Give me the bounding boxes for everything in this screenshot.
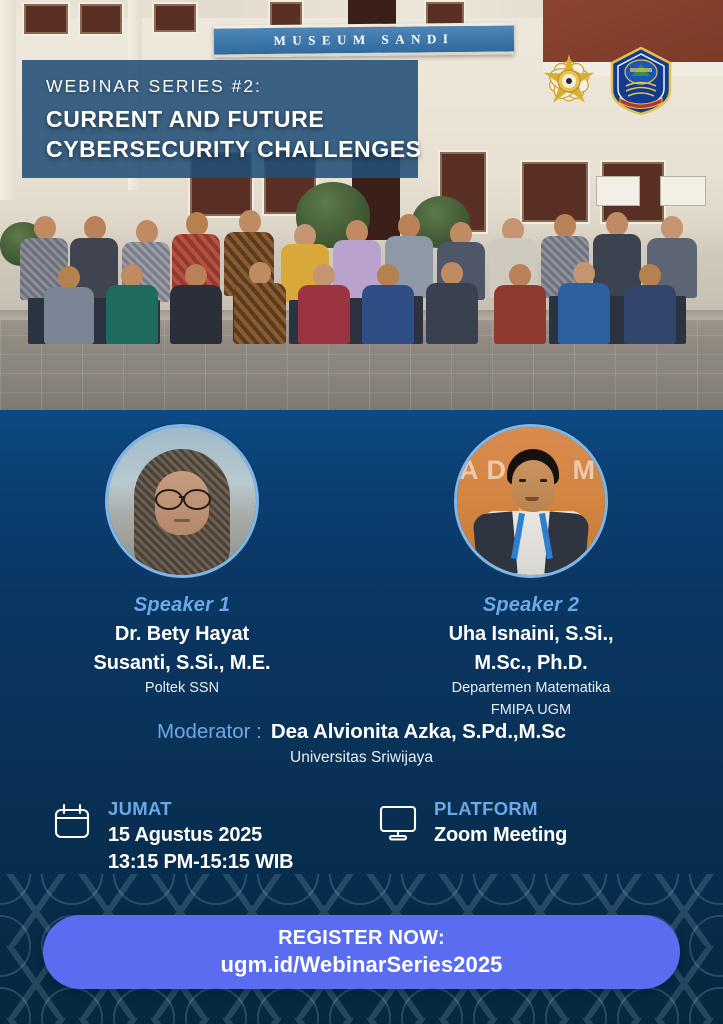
speaker-2-role: Speaker 2	[381, 594, 681, 617]
event-date-text: JUMAT 15 Agustus 2025 13:15 PM-15:15 WIB	[108, 798, 293, 875]
event-date-value: 15 Agustus 2025	[108, 823, 293, 849]
event-platform-text: PLATFORM Zoom Meeting	[434, 798, 567, 849]
moderator-name: Dea Alvionita Azka, S.Pd.,M.Sc	[271, 720, 566, 744]
attendee	[232, 262, 288, 344]
attendee	[622, 264, 678, 344]
calendar-icon	[52, 802, 92, 847]
speaker-2-name-line2: M.Sc., Ph.D.	[381, 651, 681, 675]
speaker-2: AD H M K Speaker 2 Uha Isnaini, S.Si., M…	[381, 424, 681, 719]
group-photo-attendees	[0, 164, 723, 344]
event-day-label: JUMAT	[108, 798, 293, 819]
speaker-1-role: Speaker 1	[32, 594, 332, 617]
webinar-title-line2: CYBERSECURITY CHALLENGES	[46, 135, 706, 164]
moderator-section: Moderator : Dea Alvionita Azka, S.Pd.,M.…	[0, 720, 723, 767]
moderator-label: Moderator :	[157, 720, 262, 744]
poster-body: Speaker 1 Dr. Bety Hayat Susanti, S.Si.,…	[0, 410, 723, 1024]
speaker-1-name-line1: Dr. Bety Hayat	[32, 622, 332, 646]
register-url: ugm.id/WebinarSeries2025	[221, 952, 503, 978]
attendee	[424, 262, 480, 344]
museum-sign: MUSEUM SANDI	[214, 22, 514, 57]
attendee	[556, 262, 612, 344]
speaker-2-affiliation-line2: FMIPA UGM	[381, 701, 681, 720]
speaker-2-affiliation-line1: Departemen Matematika	[381, 679, 681, 698]
window	[22, 2, 70, 36]
attendee	[492, 264, 548, 344]
webinar-title-line1: CURRENT AND FUTURE	[46, 105, 706, 134]
title-banner-text: WEBINAR SERIES #2: CURRENT AND FUTURE CY…	[46, 76, 706, 164]
header-photo: MUSEUM SANDI	[0, 0, 723, 412]
attendee	[168, 264, 224, 344]
window	[152, 2, 198, 34]
attendee	[42, 266, 96, 344]
speaker-1-name-line2: Susanti, S.Si., M.E.	[32, 651, 332, 675]
register-label: REGISTER NOW:	[278, 927, 445, 950]
speaker-2-avatar: AD H M K	[454, 424, 608, 578]
event-platform-block: PLATFORM Zoom Meeting	[378, 798, 567, 849]
attendee	[296, 264, 352, 344]
attendee	[360, 264, 416, 344]
register-button[interactable]: REGISTER NOW: ugm.id/WebinarSeries2025	[43, 915, 680, 989]
platform-label: PLATFORM	[434, 798, 567, 819]
monitor-icon	[378, 802, 418, 847]
event-time-value: 13:15 PM-15:15 WIB	[108, 850, 293, 876]
moderator-affiliation: Universitas Sriwijaya	[0, 749, 723, 767]
museum-sign-text: MUSEUM SANDI	[273, 31, 454, 49]
speaker-1: Speaker 1 Dr. Bety Hayat Susanti, S.Si.,…	[32, 424, 332, 698]
webinar-poster: MUSEUM SANDI	[0, 0, 723, 1024]
speaker-1-affiliation: Poltek SSN	[32, 679, 332, 698]
speaker-2-name-line1: Uha Isnaini, S.Si.,	[381, 622, 681, 646]
attendee	[104, 264, 160, 344]
webinar-kicker: WEBINAR SERIES #2:	[46, 76, 706, 96]
window	[78, 2, 124, 36]
event-date-block: JUMAT 15 Agustus 2025 13:15 PM-15:15 WIB	[52, 798, 293, 875]
platform-value: Zoom Meeting	[434, 823, 567, 849]
speaker-1-avatar	[105, 424, 259, 578]
